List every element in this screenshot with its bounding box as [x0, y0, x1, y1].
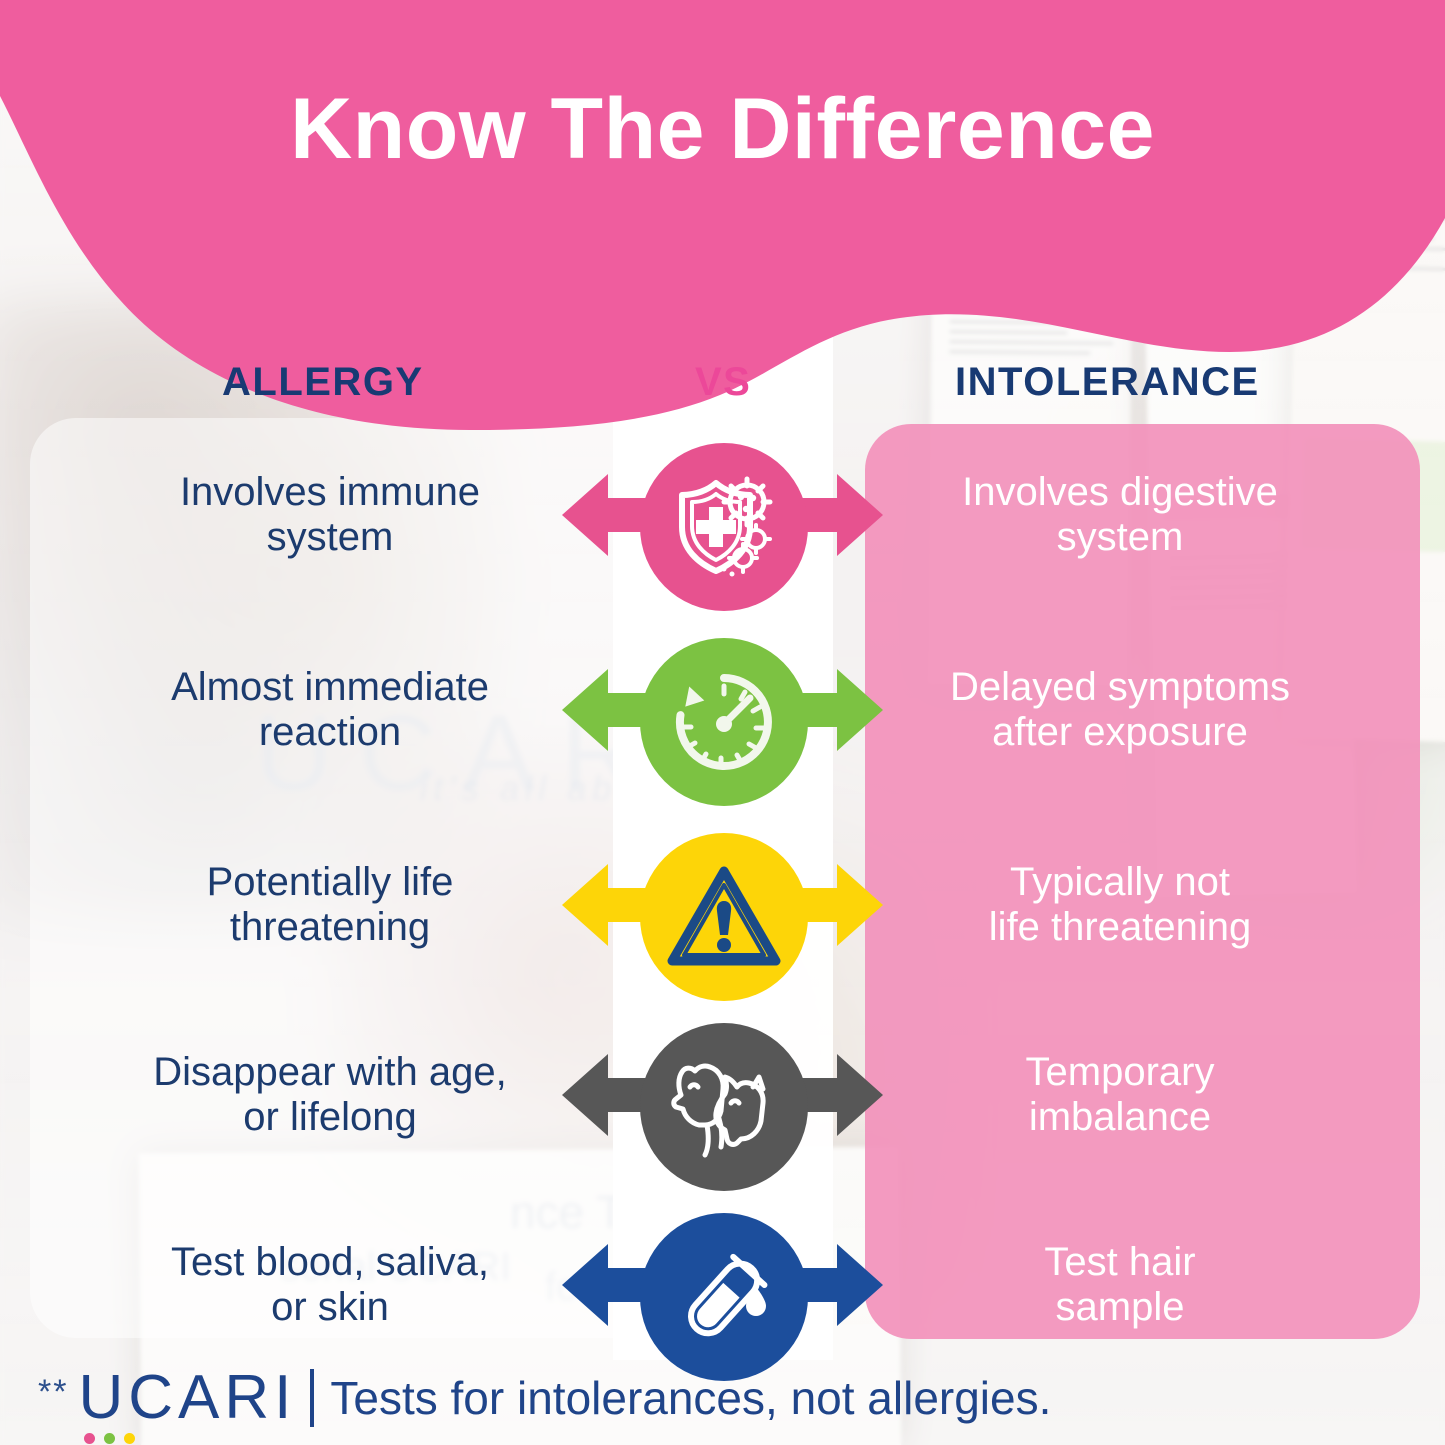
- clock-timer-icon: [640, 638, 808, 806]
- intolerance-text: Typically notlife threatening: [900, 820, 1340, 990]
- footer-tagline: Tests for intolerances, not allergies.: [330, 1371, 1051, 1425]
- comparison-row: Involves immunesystem: [0, 430, 1445, 600]
- intolerance-text: Involves digestivesystem: [900, 430, 1340, 600]
- dog-cat-icon: [640, 1023, 808, 1191]
- infographic-canvas: UCARI it's all about you nce Test sonal …: [0, 0, 1445, 1445]
- allergy-text: Potentially lifethreatening: [110, 820, 550, 990]
- intolerance-text: Temporaryimbalance: [900, 1010, 1340, 1180]
- column-header-vs: VS: [695, 360, 751, 405]
- allergy-text: Test blood, saliva,or skin: [110, 1200, 550, 1370]
- shield-virus-icon: [640, 443, 808, 611]
- allergy-text: Almost immediatereaction: [110, 625, 550, 795]
- brand-logo: UCARI: [78, 1367, 296, 1429]
- comparison-row: Test blood, saliva,or skin Test hairsamp…: [0, 1200, 1445, 1370]
- comparison-row: Potentially lifethreatening Typically no…: [0, 820, 1445, 990]
- warning-triangle-icon: [640, 833, 808, 1001]
- column-header-allergy: ALLERGY: [222, 360, 424, 405]
- column-header-intolerance: INTOLERANCE: [955, 360, 1260, 405]
- intolerance-text: Delayed symptomsafter exposure: [900, 625, 1340, 795]
- comparison-row: Almost immediatereaction: [0, 625, 1445, 795]
- brand-dot-yellow: [124, 1433, 135, 1444]
- allergy-text: Disappear with age,or lifelong: [110, 1010, 550, 1180]
- brand-dot-green: [104, 1433, 115, 1444]
- comparison-row: Disappear with age,or lifelong: [0, 1010, 1445, 1180]
- brand-dots: [84, 1433, 135, 1444]
- allergy-text: Involves immunesystem: [110, 430, 550, 600]
- brand-name: UCARI: [78, 1367, 296, 1429]
- asterisk-mark: **: [38, 1373, 68, 1412]
- footer-bar: ** UCARI Tests for intolerances, not all…: [0, 1352, 1445, 1444]
- divider: [310, 1369, 314, 1427]
- page-title: Know The Difference: [0, 86, 1445, 172]
- brand-dot-pink: [84, 1433, 95, 1444]
- intolerance-text: Test hairsample: [900, 1200, 1340, 1370]
